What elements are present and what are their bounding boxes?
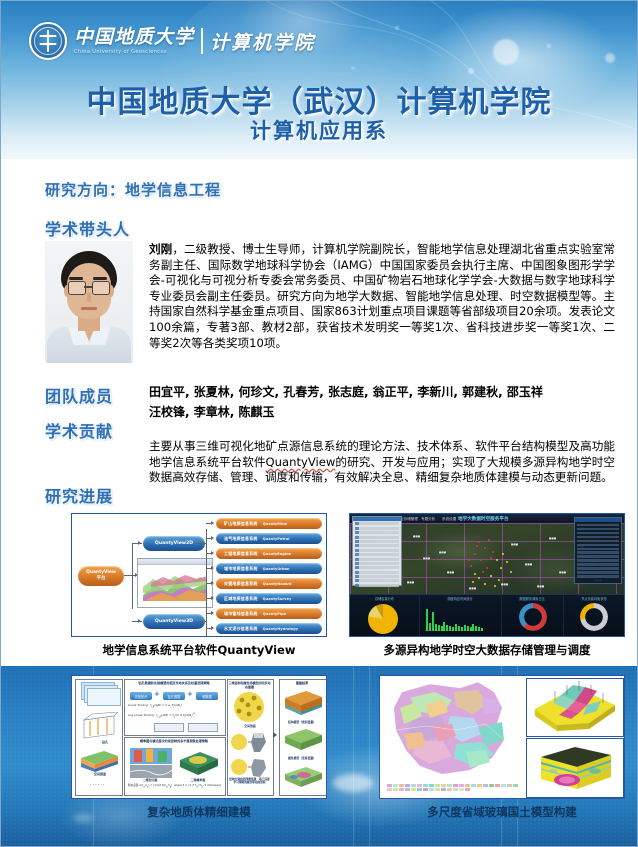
contribution-software-name: QuantyView xyxy=(266,455,336,469)
team-row-2: 汪校锋, 李章林, 陈麒玉 xyxy=(149,402,615,422)
figure-spatiotemporal-bigdata-dashboard: 地学大数据时空服务平台 数据管理时空调度云存储管理专题分析系统设置 ■■■■■■… xyxy=(349,513,625,637)
3d-geological-structure-model xyxy=(526,678,624,737)
pie-chart xyxy=(368,604,398,634)
bar-item xyxy=(452,627,454,631)
dashboard-menu-item[interactable]: 专题分析 xyxy=(421,517,435,522)
figure2-caption: 多源异构地学时空大数据存储管理与调度 xyxy=(349,642,625,658)
dashboard-app-title: 地学大数据时空服务平台 xyxy=(458,516,509,522)
bar-item xyxy=(432,612,434,631)
workflow-label-attribute: 属性模型（连续变量） xyxy=(280,756,324,760)
map-place-label: ■■■ xyxy=(406,581,415,584)
logo-english-name: China University of Geosciences xyxy=(74,49,194,55)
bar-item xyxy=(435,624,437,631)
map-place-label: ■■■ xyxy=(558,571,567,574)
figure3-caption: 复杂地质体精细建模 xyxy=(71,804,327,820)
system-english-name: QuantyMine xyxy=(263,522,287,526)
system-english-name: QuantyEngine xyxy=(263,552,291,556)
workflow-label-2d: 二维剖分图 xyxy=(132,778,168,782)
poster-header: 中国地质大学 China University of Geosciences 计… xyxy=(1,1,637,159)
quantyview-system-row: 区域地质信息系统QuantySurvey xyxy=(216,593,322,604)
workflow-label-structure: 结构模型（类别变量） xyxy=(280,720,324,724)
map-place-label: ■■■ xyxy=(468,587,477,590)
bar-item xyxy=(475,626,477,631)
logo-school-name: 计算机学院 xyxy=(210,28,315,55)
dashboard-menu-item[interactable]: 系统设置 xyxy=(442,517,456,522)
system-english-name: QuantyUrban xyxy=(263,567,290,571)
system-chinese-name: 水文泥沙信息系统 xyxy=(224,626,258,632)
workflow-chip-1: 先验知识 xyxy=(130,692,152,700)
map-place-label: ■■■ xyxy=(536,585,545,588)
research-direction-label: 研究方向：地学信息工程 xyxy=(45,179,221,200)
leader-name: 刘刚 xyxy=(149,242,172,256)
workflow-label-section2: 空间剖面 xyxy=(230,724,270,728)
academic-leader-label: 学术带头人 xyxy=(45,216,130,240)
bar-item xyxy=(461,627,463,631)
team-row-1: 田宜平, 张夏林, 何珍文, 孔春芳, 张志庭, 翁正平, 李新川, 郭建秋, … xyxy=(149,382,615,402)
workflow-chip-3: 硬数据 xyxy=(196,692,218,700)
map-place-label: ■■■ xyxy=(548,537,557,540)
chart-title: 数据服务调用占比 xyxy=(501,596,563,601)
figure4-caption: 多尺度省域玻璃国土模型构建 xyxy=(379,804,625,820)
academic-contribution-text: 主要从事三维可视化地矿点源信息系统的理论方法、技术体系、软件平台结构模型及高功能… xyxy=(149,439,615,486)
quantyview-system-row: 水文泥沙信息系统QuantyHydrology xyxy=(216,623,322,634)
map-place-label: ■■■ xyxy=(500,583,509,586)
workflow-label-borehole: 钻孔 xyxy=(94,740,116,744)
bar-item xyxy=(481,628,483,631)
quantyview-system-row: 工程地质信息系统QuantyEngine xyxy=(216,548,322,559)
map-place-label: ■■■ xyxy=(524,563,533,566)
bar-item xyxy=(438,625,440,631)
team-member-list: 田宜平, 张夏林, 何珍文, 孔春芳, 张志庭, 翁正平, 李新川, 郭建秋, … xyxy=(149,382,615,422)
academic-contribution-label: 学术贡献 xyxy=(45,418,113,442)
bar-item xyxy=(470,627,472,631)
system-chinese-name: 灾害地质信息系统 xyxy=(224,581,258,587)
figure1-caption: 地学信息系统平台软件QuantyView xyxy=(71,642,327,658)
bar-item xyxy=(443,622,445,631)
quantyview-system-row: 矿山地质信息系统QuantyMine xyxy=(216,518,322,529)
system-chinese-name: 油气地质信息系统 xyxy=(224,536,258,542)
dashboard-chart-strip: 存储容量分布 调度响应时间统计 数据服务调用占比 节点负载均衡状态 xyxy=(350,594,624,636)
university-logo: 中国地质大学 China University of Geosciences 计… xyxy=(29,21,315,61)
bar-item xyxy=(449,626,451,631)
system-chinese-name: 工程地质信息系统 xyxy=(224,551,258,557)
map-place-label: ■■■ xyxy=(510,543,519,546)
quantyview-root-node: QuantyView 平台 xyxy=(78,566,124,586)
leader-portrait-photo xyxy=(45,241,133,363)
logo-chinese-name: 中国地质大学 xyxy=(74,28,194,47)
system-english-name: QuantyHazard xyxy=(263,582,292,586)
leader-bio-text: ，二级教授、博士生导师，计算机学院副院长，智能地学信息处理湖北省重点实验室常务副… xyxy=(149,242,615,350)
map-place-label: ■■■ xyxy=(412,535,421,538)
poster-root: 中国地质大学 China University of Geosciences 计… xyxy=(0,0,638,847)
provincial-geology-map xyxy=(382,678,522,796)
quantyview-system-row: 城市地质信息系统QuantyUrban xyxy=(216,563,322,574)
system-chinese-name: 城市地质信息系统 xyxy=(224,566,258,572)
system-english-name: QuantyPipe xyxy=(263,612,287,616)
system-chinese-name: 区域地质信息系统 xyxy=(224,596,258,602)
figure-provincial-glass-land-model xyxy=(379,675,625,799)
bar-item xyxy=(455,624,457,631)
3d-geological-block-model xyxy=(526,738,624,798)
dashboard-chart-donut-1: 数据服务调用占比 xyxy=(501,595,564,636)
system-english-name: QuantySurvey xyxy=(263,597,292,601)
bar-item xyxy=(464,625,466,631)
system-english-name: QuantyPetrol xyxy=(263,537,290,541)
dashboard-chart-bar: 调度响应时间统计 xyxy=(419,595,502,636)
leader-biography: 刘刚，二级教授、博士生导师，计算机学院副院长，智能地学信息处理湖北省重点实验室常… xyxy=(149,242,615,351)
map-place-label: ■■■ xyxy=(422,557,431,560)
donut-chart xyxy=(580,603,608,631)
dashboard-chart-donut-2: 节点负载均衡状态 xyxy=(563,595,625,636)
bar-item xyxy=(458,626,460,631)
workflow-title-top: 钻孔数据和先验模型的相互作用关系及权重选择策略 xyxy=(126,681,222,685)
map-legend xyxy=(386,783,520,793)
university-emblem-icon xyxy=(29,22,67,60)
map-place-label: ■■■ xyxy=(446,571,455,574)
dashboard-menu-item[interactable]: 云存储管理 xyxy=(400,517,418,522)
quantyview-system-row: 城市管线信息系统QuantyPipe xyxy=(216,608,322,619)
workflow-title-right: 三维结构和属性场模型的同步动态重建 xyxy=(228,681,271,690)
chart-title: 调度响应时间统计 xyxy=(419,596,501,601)
bar-item xyxy=(446,625,448,631)
poster-title-line2: 计算机应用系 xyxy=(1,115,637,145)
figure-geological-body-modeling: 多元地质数据 钻孔 空间剖面 ······ 钻孔数据和先验模型的相互作用关系及权… xyxy=(71,675,327,799)
bar-item xyxy=(441,626,443,631)
quantyview-3d-terrain-thumbnail xyxy=(137,558,213,608)
header-glow-dot xyxy=(605,53,615,63)
workflow-label-section: 空间剖面 xyxy=(84,772,116,776)
bar-item xyxy=(426,609,428,631)
header-glow-dot xyxy=(493,39,519,65)
chart-title: 节点负载均衡状态 xyxy=(563,596,625,601)
system-english-name: QuantyHydrology xyxy=(263,627,298,631)
donut-chart xyxy=(519,603,547,631)
bar-item xyxy=(429,623,431,631)
research-progress-label: 研究进展 xyxy=(45,483,113,507)
team-members-label: 团队成员 xyxy=(45,383,113,407)
system-chinese-name: 城市管线信息系统 xyxy=(224,611,258,617)
system-chinese-name: 矿山地质信息系统 xyxy=(224,521,258,527)
dashboard-chart-pie: 存储容量分布 xyxy=(350,595,420,636)
logo-divider xyxy=(201,28,203,54)
bar-item xyxy=(467,626,469,631)
quantyview-system-row: 灾害地质信息系统QuantyHazard xyxy=(216,578,322,589)
figure-quantyview-architecture: QuantyView 平台 QuantyView2D QuantyView3D … xyxy=(71,513,327,637)
quantyview-system-row: 油气地质信息系统QuantyPetrol xyxy=(216,533,322,544)
map-place-label: ■■■ xyxy=(438,551,447,554)
workflow-label-result: 重建结果 xyxy=(280,681,324,685)
workflow-chip-2: 钻孔数据 xyxy=(163,692,185,700)
root-label-2: 平台 xyxy=(97,576,106,582)
chart-title: 存储容量分布 xyxy=(350,596,419,601)
dashboard-attribute-panel[interactable] xyxy=(574,517,622,584)
dashboard-data-catalog-panel[interactable] xyxy=(352,516,402,586)
workflow-label-3d: 三维概率图 xyxy=(180,778,216,782)
bar-item xyxy=(472,624,474,631)
bar-item xyxy=(478,627,480,631)
workflow-title-mid: 概率图与模式层次约束控制的多平稳现象处理策略 xyxy=(126,739,222,743)
